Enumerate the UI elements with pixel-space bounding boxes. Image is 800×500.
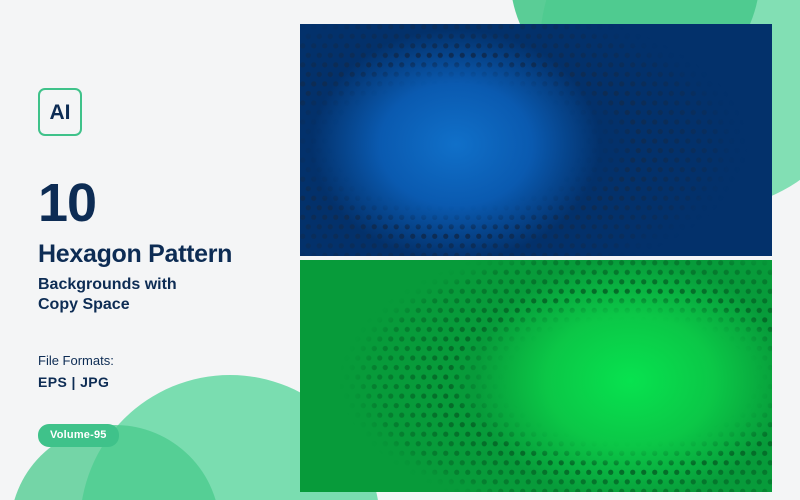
poster-canvas: AI 10 Hexagon Pattern Backgrounds with C… bbox=[0, 0, 800, 500]
green-hexagon-dot-pattern bbox=[300, 260, 772, 492]
page-subtitle-line2: Copy Space bbox=[38, 295, 288, 315]
ai-format-icon: AI bbox=[38, 88, 82, 136]
ai-format-label: AI bbox=[50, 102, 71, 123]
item-count: 10 bbox=[38, 176, 288, 230]
preview-list bbox=[300, 24, 772, 492]
preview-green-banner[interactable] bbox=[300, 260, 772, 492]
blue-hexagon-dot-pattern bbox=[300, 24, 772, 256]
file-formats-label: File Formats: bbox=[38, 353, 288, 368]
volume-badge: Volume-95 bbox=[38, 424, 119, 447]
preview-blue-banner[interactable] bbox=[300, 24, 772, 256]
product-info-panel: AI 10 Hexagon Pattern Backgrounds with C… bbox=[38, 88, 288, 447]
file-formats-value: EPS | JPG bbox=[38, 374, 288, 390]
page-title: Hexagon Pattern bbox=[38, 240, 288, 269]
page-subtitle-line1: Backgrounds with bbox=[38, 275, 288, 295]
